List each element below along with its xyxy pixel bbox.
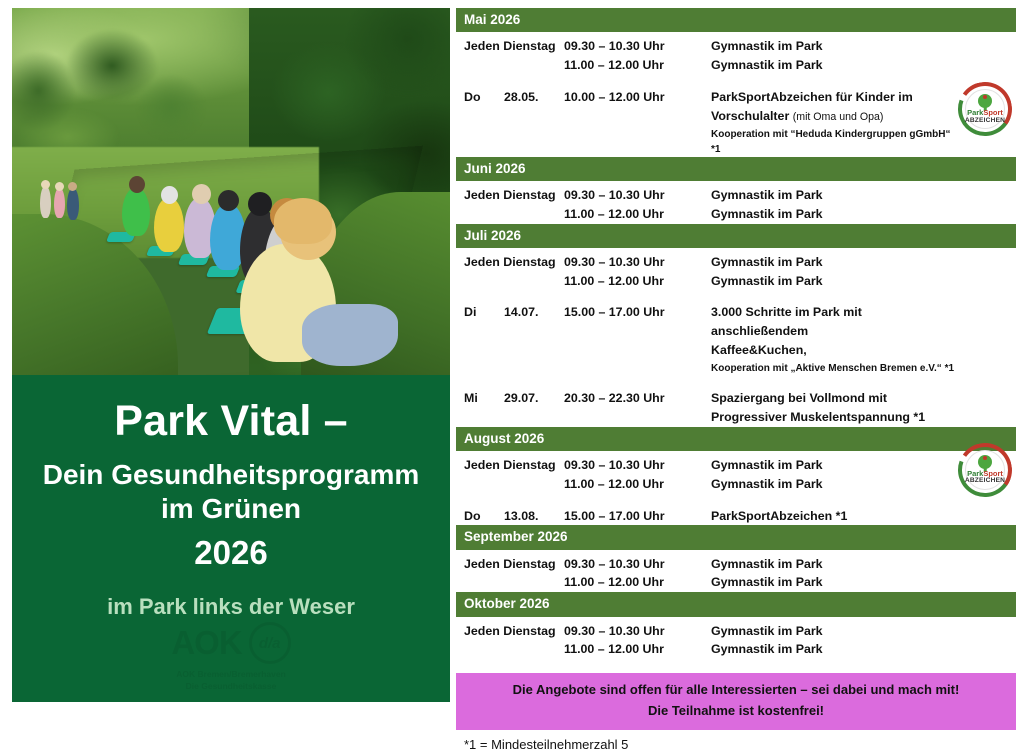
schedule-row: Jeden Dienstag09.30 – 10.30 UhrGymnastik… <box>456 617 1016 641</box>
row-description: ParkSportAbzeichen *1 <box>711 507 1016 526</box>
month-section: Mai 2026Jeden Dienstag09.30 – 10.30 UhrG… <box>456 8 1016 157</box>
photo-person-head <box>68 182 77 191</box>
aok-circle-icon: d/a <box>249 622 291 664</box>
row-time: 09.30 – 10.30 Uhr <box>564 37 711 56</box>
row-day: Jeden Dienstag <box>456 186 564 205</box>
row-time: 11.00 – 12.00 Uhr <box>564 205 711 224</box>
poster-page: Park Vital – Dein Gesundheitsprogramm im… <box>0 0 1024 709</box>
month-heading: Oktober 2026 <box>456 592 1016 616</box>
month-rows: Jeden Dienstag09.30 – 10.30 UhrGymnastik… <box>456 451 1016 526</box>
row-time: 11.00 – 12.00 Uhr <box>564 640 711 659</box>
poster-year: 2026 <box>12 534 450 572</box>
schedule-row: 11.00 – 12.00 UhrGymnastik im Park <box>456 56 1016 75</box>
schedule-row: Do28.05.10.00 – 12.00 UhrParkSportAbzeic… <box>456 88 1016 157</box>
row-date: 29.07. <box>504 389 564 408</box>
schedule-row: Do13.08.15.00 – 17.00 UhrParkSportAbzeic… <box>456 507 1016 526</box>
row-day: Jeden Dienstag <box>456 622 564 641</box>
row-description-line2: Vorschulalter (mit Oma und Opa) <box>711 107 958 126</box>
row-date: 28.05. <box>504 88 564 107</box>
row-description: Gymnastik im Park <box>711 37 1016 56</box>
page-title: Park Vital – <box>12 399 450 444</box>
row-description: 3.000 Schritte im Park mit anschließende… <box>711 303 1016 376</box>
schedule-row: 11.00 – 12.00 UhrGymnastik im Park <box>456 573 1016 592</box>
month-rows: Jeden Dienstag09.30 – 10.30 UhrGymnastik… <box>456 550 1016 593</box>
month-heading: August 2026 <box>456 427 1016 451</box>
row-description-line2: Kaffee&Kuchen, <box>711 341 958 360</box>
row-weekday: Mi <box>456 389 504 408</box>
schedule-row: Mi29.07.20.30 – 22.30 UhrSpaziergang bei… <box>456 389 1016 427</box>
schedule-row: Jeden Dienstag09.30 – 10.30 UhrGymnastik… <box>456 550 1016 574</box>
row-day: Jeden Dienstag <box>456 253 564 272</box>
row-day: Jeden Dienstag <box>456 456 564 475</box>
photo-person-head <box>161 186 178 204</box>
row-description-line1: 3.000 Schritte im Park mit anschließende… <box>711 303 958 341</box>
poster-location: im Park links der Weser <box>12 594 450 620</box>
photo-person <box>54 188 65 218</box>
photo-person <box>154 198 184 252</box>
row-description: Gymnastik im Park <box>711 555 1016 574</box>
photo-person-head <box>248 192 272 216</box>
row-date: 13.08. <box>504 507 564 526</box>
row-time: 10.00 – 12.00 Uhr <box>564 88 711 107</box>
park-photo <box>12 8 450 375</box>
poster-title-block: Park Vital – Dein Gesundheitsprogramm im… <box>12 375 450 702</box>
row-description: Gymnastik im Park <box>711 622 1016 641</box>
photo-person-hair <box>274 198 332 244</box>
photo-person <box>40 186 51 218</box>
row-description: Gymnastik im Park <box>711 640 1016 659</box>
row-description: Gymnastik im Park <box>711 573 1016 592</box>
schedule-row: 11.00 – 12.00 UhrGymnastik im Park <box>456 640 1016 659</box>
month-rows: Jeden Dienstag09.30 – 10.30 UhrGymnastik… <box>456 181 1016 224</box>
parksport-abzeichen-icon: ParkSportABZEICHEN <box>956 80 1014 138</box>
left-panel: Park Vital – Dein Gesundheitsprogramm im… <box>12 8 450 702</box>
photo-person-head <box>192 184 211 204</box>
row-time: 11.00 – 12.00 Uhr <box>564 272 711 291</box>
schedule-table: Mai 2026Jeden Dienstag09.30 – 10.30 UhrG… <box>456 8 1016 702</box>
schedule-months: Mai 2026Jeden Dienstag09.30 – 10.30 UhrG… <box>456 8 1016 659</box>
schedule-row: Jeden Dienstag09.30 – 10.30 UhrGymnastik… <box>456 451 1016 475</box>
row-description: Gymnastik im Park <box>711 272 1016 291</box>
photo-person-head <box>218 190 239 211</box>
month-heading: Juni 2026 <box>456 157 1016 181</box>
row-time: 11.00 – 12.00 Uhr <box>564 56 711 75</box>
parksport-abzeichen-icon: ParkSportABZEICHEN <box>956 441 1014 499</box>
row-description-line2: Progressiver Muskelentspannung *1 <box>711 408 958 427</box>
row-description: Gymnastik im Park <box>711 205 1016 224</box>
footnote: *1 = Mindesteilnehmerzahl 5 <box>456 737 1016 752</box>
row-date: 14.07. <box>504 303 564 322</box>
row-time: 20.30 – 22.30 Uhr <box>564 389 711 408</box>
month-section: Juli 2026Jeden Dienstag09.30 – 10.30 Uhr… <box>456 224 1016 427</box>
month-rows: Jeden Dienstag09.30 – 10.30 UhrGymnastik… <box>456 617 1016 660</box>
schedule-row: 11.00 – 12.00 UhrGymnastik im Park <box>456 205 1016 224</box>
photo-person-jeans <box>302 304 398 366</box>
banner-line-2: Die Teilnahme ist kostenfrei! <box>462 701 1010 722</box>
banner-line-1: Die Angebote sind offen für alle Interes… <box>462 680 1010 701</box>
schedule-row: Di14.07.15.00 – 17.00 Uhr3.000 Schritte … <box>456 303 1016 376</box>
month-section: August 2026Jeden Dienstag09.30 – 10.30 U… <box>456 427 1016 526</box>
row-description-line1: Spaziergang bei Vollmond mit <box>711 389 958 408</box>
row-description: Spaziergang bei Vollmond mitProgressiver… <box>711 389 1016 427</box>
month-heading: Mai 2026 <box>456 8 1016 32</box>
row-description-note: (mit Oma und Opa) <box>793 111 884 123</box>
month-heading: Juli 2026 <box>456 224 1016 248</box>
aok-tagline-line1: AOK Bremen/Bremerhaven <box>136 669 326 680</box>
row-day: Jeden Dienstag <box>456 555 564 574</box>
month-section: Juni 2026Jeden Dienstag09.30 – 10.30 Uhr… <box>456 157 1016 224</box>
row-time: 09.30 – 10.30 Uhr <box>564 555 711 574</box>
schedule-row: Jeden Dienstag09.30 – 10.30 UhrGymnastik… <box>456 248 1016 272</box>
row-cooperation-note: Kooperation mit „Aktive Menschen Bremen … <box>711 361 958 376</box>
schedule-row: Jeden Dienstag09.30 – 10.30 UhrGymnastik… <box>456 32 1016 56</box>
month-rows: Jeden Dienstag09.30 – 10.30 UhrGymnastik… <box>456 32 1016 156</box>
photo-person <box>122 188 150 236</box>
photo-person-head <box>129 176 145 193</box>
photo-person-head <box>41 180 50 189</box>
row-time: 15.00 – 17.00 Uhr <box>564 507 711 526</box>
row-time: 09.30 – 10.30 Uhr <box>564 253 711 272</box>
row-time: 09.30 – 10.30 Uhr <box>564 186 711 205</box>
row-time: 11.00 – 12.00 Uhr <box>564 475 711 494</box>
row-day: Jeden Dienstag <box>456 37 564 56</box>
aok-logo: AOK d/a AOK Bremen/Bremerhaven Die Gesun… <box>136 622 326 692</box>
row-description: Gymnastik im Park <box>711 56 1016 75</box>
row-cooperation-note: Kooperation mit “Heduda Kindergruppen gG… <box>711 127 958 157</box>
photo-person-head <box>55 182 64 191</box>
aok-tagline-line2: Die Gesundheitskasse <box>136 681 326 692</box>
poster-subtitle: Dein Gesundheitsprogramm im Grünen <box>12 458 450 526</box>
poster-subtitle-line1: Dein Gesundheitsprogramm <box>12 458 450 492</box>
month-rows: Jeden Dienstag09.30 – 10.30 UhrGymnastik… <box>456 248 1016 427</box>
row-description-line1: ParkSportAbzeichen für Kinder im <box>711 88 958 107</box>
poster-subtitle-line2: im Grünen <box>12 492 450 526</box>
row-description: Gymnastik im Park <box>711 253 1016 272</box>
row-time: 11.00 – 12.00 Uhr <box>564 573 711 592</box>
row-time: 09.30 – 10.30 Uhr <box>564 622 711 641</box>
row-weekday: Do <box>456 88 504 107</box>
aok-tagline: AOK Bremen/Bremerhaven Die Gesundheitska… <box>136 669 326 692</box>
aok-logo-row: AOK d/a <box>136 622 326 664</box>
call-to-action-banner: Die Angebote sind offen für alle Interes… <box>456 673 1016 730</box>
row-time: 09.30 – 10.30 Uhr <box>564 456 711 475</box>
row-description: Gymnastik im Park <box>711 186 1016 205</box>
photo-person <box>67 188 79 220</box>
month-section: Oktober 2026Jeden Dienstag09.30 – 10.30 … <box>456 592 1016 659</box>
row-time: 15.00 – 17.00 Uhr <box>564 303 711 322</box>
month-heading: September 2026 <box>456 525 1016 549</box>
row-weekday: Do <box>456 507 504 526</box>
schedule-row: Jeden Dienstag09.30 – 10.30 UhrGymnastik… <box>456 181 1016 205</box>
row-weekday: Di <box>456 303 504 322</box>
row-description-line1: ParkSportAbzeichen *1 <box>711 507 958 526</box>
month-section: September 2026Jeden Dienstag09.30 – 10.3… <box>456 525 1016 592</box>
schedule-row: 11.00 – 12.00 UhrGymnastik im Park <box>456 475 1016 494</box>
schedule-row: 11.00 – 12.00 UhrGymnastik im Park <box>456 272 1016 291</box>
aok-wordmark: AOK <box>171 624 241 662</box>
